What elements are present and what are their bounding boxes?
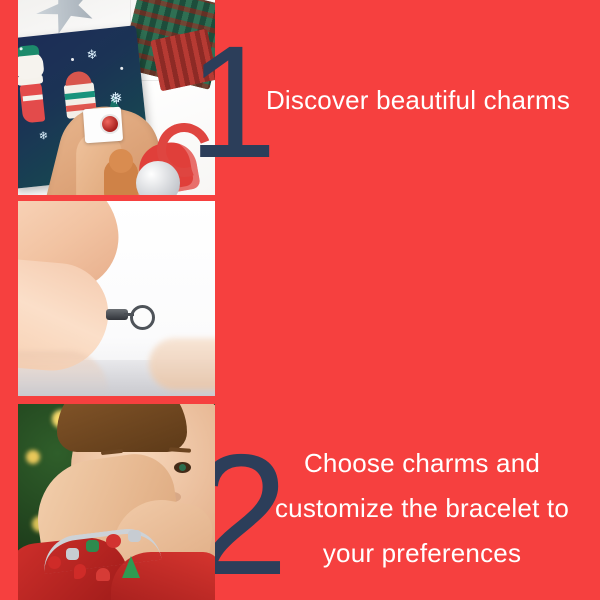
green-charm-bead — [86, 540, 99, 552]
snowflake-icon: ❄ — [38, 131, 48, 143]
girl-wearing-bracelet-photo — [18, 404, 215, 600]
silver-charm-bead — [66, 548, 79, 560]
step-3-photo — [18, 404, 215, 600]
advent-calendar-photo: ❄ ❅ ❄ ★ — [18, 0, 215, 195]
snowflake-icon: ❅ — [109, 91, 124, 108]
blurred-hand-background — [149, 338, 215, 390]
red-charm-bead — [48, 556, 61, 569]
step-caption-1: Discover beautiful charms — [240, 78, 596, 123]
silver-charm-bead — [128, 530, 141, 542]
llama-graphic — [18, 51, 45, 80]
step-2-photo — [18, 201, 215, 396]
snow-dot — [71, 58, 74, 61]
red-charm-bead — [102, 116, 118, 132]
promo-infographic: ❄ ❅ ❄ ★ — [0, 0, 600, 600]
step-row-3: 3 Enjoy your beautiful bracelet — [0, 404, 600, 600]
step-row-2: 2 Choose charms and customize the bracel… — [0, 201, 600, 396]
christmas-tree-charm — [122, 556, 140, 578]
eye — [174, 462, 191, 473]
gift-bow-graphic — [64, 70, 91, 86]
clasp-in-fingers-photo — [18, 201, 215, 396]
hair — [57, 404, 187, 452]
jump-ring — [130, 305, 155, 330]
heart-charm — [96, 568, 110, 581]
red-charm-bead — [106, 534, 121, 548]
bokeh-light — [26, 450, 40, 464]
step-1-photo: ❄ ❅ ❄ ★ — [18, 0, 215, 195]
snow-dot — [120, 67, 123, 70]
gingerbread-man-cookie — [104, 159, 138, 195]
stocking-graphic — [19, 81, 45, 123]
step-row-1: ❄ ❅ ❄ ★ — [0, 0, 600, 195]
snowflake-icon: ❄ — [86, 47, 98, 61]
